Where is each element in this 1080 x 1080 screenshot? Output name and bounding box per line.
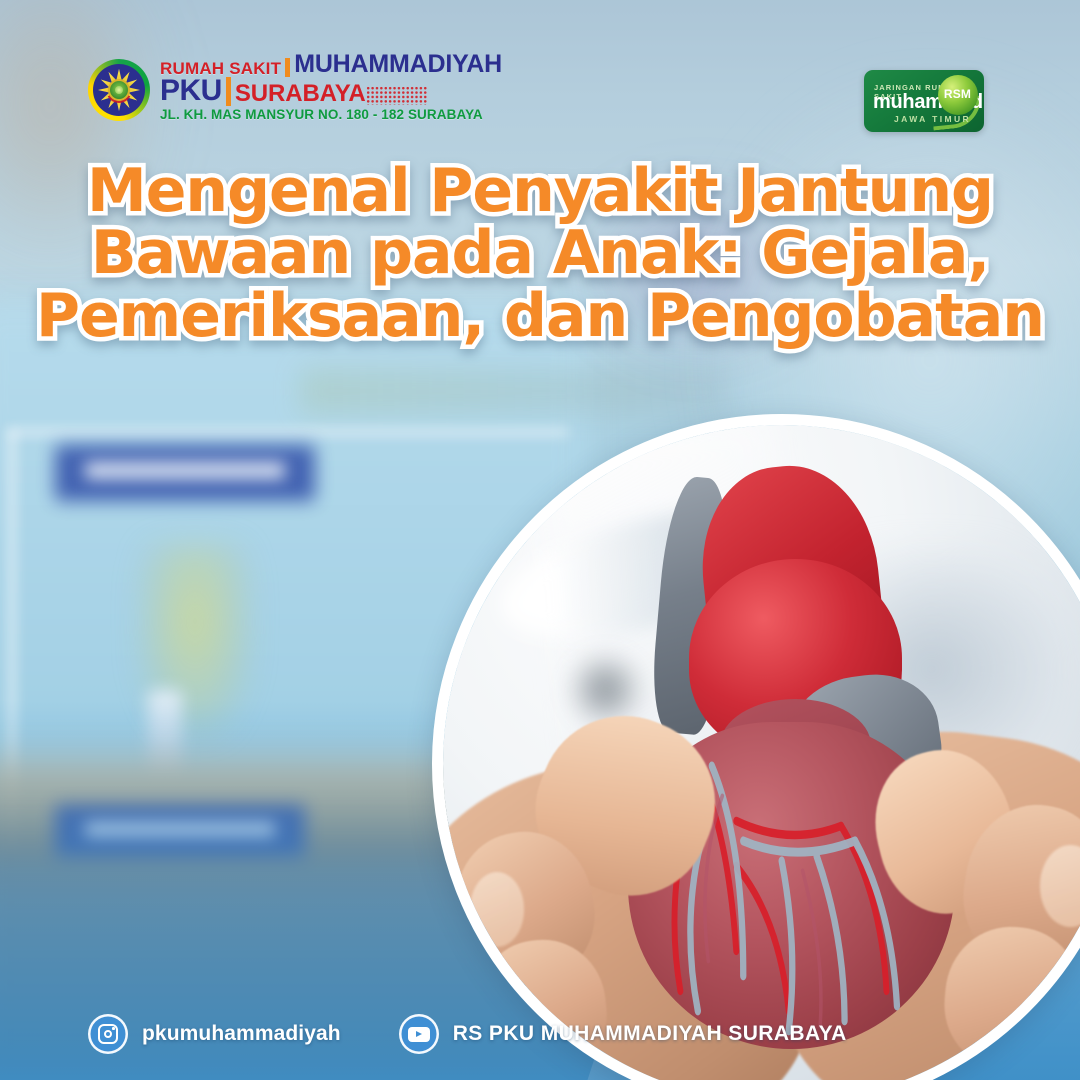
instagram-glyph	[98, 1024, 118, 1044]
instagram-handle-group[interactable]: pkumuhammadiyah	[88, 1014, 341, 1054]
heart-photo-circle	[432, 414, 1080, 1080]
heart-photo-inner	[443, 425, 1080, 1080]
emblem-center	[108, 79, 130, 101]
logo-address-label: JL. KH. MAS MANSYUR NO. 180 - 182 SURABA…	[160, 108, 502, 122]
footer-social-bar: pkumuhammadiyah RS PKU MUHAMMADIYAH SURA…	[88, 1014, 847, 1054]
logo-muhammadiyah-label: MUHAMMADIYAH	[294, 52, 502, 77]
logo-divider-bar-top	[285, 58, 290, 77]
background-overhead-sign	[300, 368, 730, 414]
hospital-logo-text: RUMAH SAKIT MUHAMMADIYAH PKU SURABAYA JL…	[160, 58, 502, 122]
youtube-glyph	[408, 1027, 430, 1042]
rsm-network-badge: JARINGAN RUMAH SAKIT muhammadiyah JAWA T…	[864, 70, 984, 132]
title-line-2: Bawaan pada Anak: Gejala,	[0, 222, 1080, 284]
logo-surabaya-label: SURABAYA	[235, 82, 366, 106]
logo-pku-label: PKU	[160, 76, 222, 106]
instagram-icon[interactable]	[88, 1014, 128, 1054]
muhammadiyah-sun-emblem-icon	[88, 59, 150, 121]
hospital-logo: RUMAH SAKIT MUHAMMADIYAH PKU SURABAYA JL…	[88, 58, 502, 122]
logo-halftone-dots	[366, 86, 428, 105]
background-sign-upper-text	[85, 462, 285, 479]
youtube-channel-group[interactable]: RS PKU MUHAMMADIYAH SURABAYA	[399, 1014, 847, 1054]
youtube-channel-label: RS PKU MUHAMMADIYAH SURABAYA	[453, 1022, 847, 1046]
logo-divider-bar-bottom	[226, 77, 231, 106]
instagram-handle-label: pkumuhammadiyah	[142, 1022, 341, 1046]
title-line-1: Mengenal Penyakit Jantung	[0, 160, 1080, 222]
page-title: Mengenal Penyakit Jantung Bawaan pada An…	[0, 160, 1080, 347]
title-line-3: Pemeriksaan, dan Pengobatan	[0, 285, 1080, 347]
poster-canvas: RUMAH SAKIT MUHAMMADIYAH PKU SURABAYA JL…	[0, 0, 1080, 1080]
youtube-icon[interactable]	[399, 1014, 439, 1054]
rsm-ball-label: RSM	[941, 87, 974, 101]
fingernail-left	[470, 872, 524, 947]
rsm-region: JAWA TIMUR	[894, 114, 971, 124]
